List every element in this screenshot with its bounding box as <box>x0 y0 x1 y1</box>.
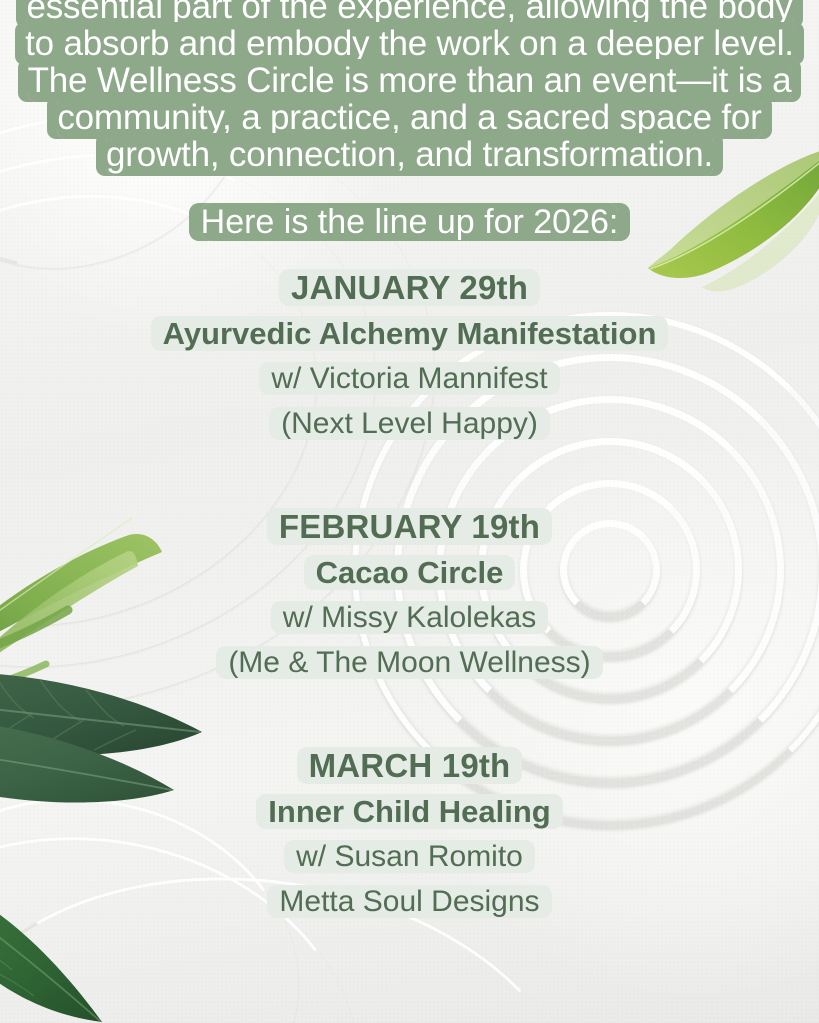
event-date: FEBRUARY 19th <box>0 504 819 550</box>
event-host-text: w/ Victoria Mannifest <box>271 362 547 395</box>
event-org-text: Metta Soul Designs <box>279 885 539 918</box>
event-march: MARCH 19th Inner Child Healing w/ Susan … <box>0 743 819 924</box>
lineup-heading: Here is the line up for 2026: <box>0 199 819 245</box>
event-org: Metta Soul Designs <box>0 879 819 924</box>
event-org-text: (Me & The Moon Wellness) <box>228 646 590 679</box>
event-title-text: Inner Child Healing <box>268 794 550 829</box>
event-host: w/ Victoria Mannifest <box>0 356 819 401</box>
event-title-text: Ayurvedic Alchemy Manifestation <box>163 316 657 351</box>
event-date: MARCH 19th <box>0 743 819 789</box>
event-date-text: FEBRUARY 19th <box>279 508 540 545</box>
intro-paragraph: essential part of the experience, allowi… <box>0 0 819 173</box>
event-title: Ayurvedic Alchemy Manifestation <box>0 311 819 356</box>
event-title: Inner Child Healing <box>0 789 819 834</box>
event-host: w/ Susan Romito <box>0 834 819 879</box>
event-date-text: MARCH 19th <box>309 747 511 784</box>
event-february: FEBRUARY 19th Cacao Circle w/ Missy Kalo… <box>0 504 819 685</box>
intro-paragraph-text: essential part of the experience, allowi… <box>25 0 794 176</box>
event-date: JANUARY 29th <box>0 265 819 311</box>
event-title-text: Cacao Circle <box>316 555 504 590</box>
event-host-text: w/ Susan Romito <box>296 840 523 873</box>
event-title: Cacao Circle <box>0 550 819 595</box>
event-org-text: (Next Level Happy) <box>281 407 538 440</box>
event-host-text: w/ Missy Kalolekas <box>283 601 536 634</box>
event-host: w/ Missy Kalolekas <box>0 595 819 640</box>
event-date-text: JANUARY 29th <box>291 269 528 306</box>
event-org: (Next Level Happy) <box>0 401 819 446</box>
event-org: (Me & The Moon Wellness) <box>0 640 819 685</box>
event-january: JANUARY 29th Ayurvedic Alchemy Manifesta… <box>0 265 819 446</box>
lineup-heading-text: Here is the line up for 2026: <box>201 203 619 241</box>
